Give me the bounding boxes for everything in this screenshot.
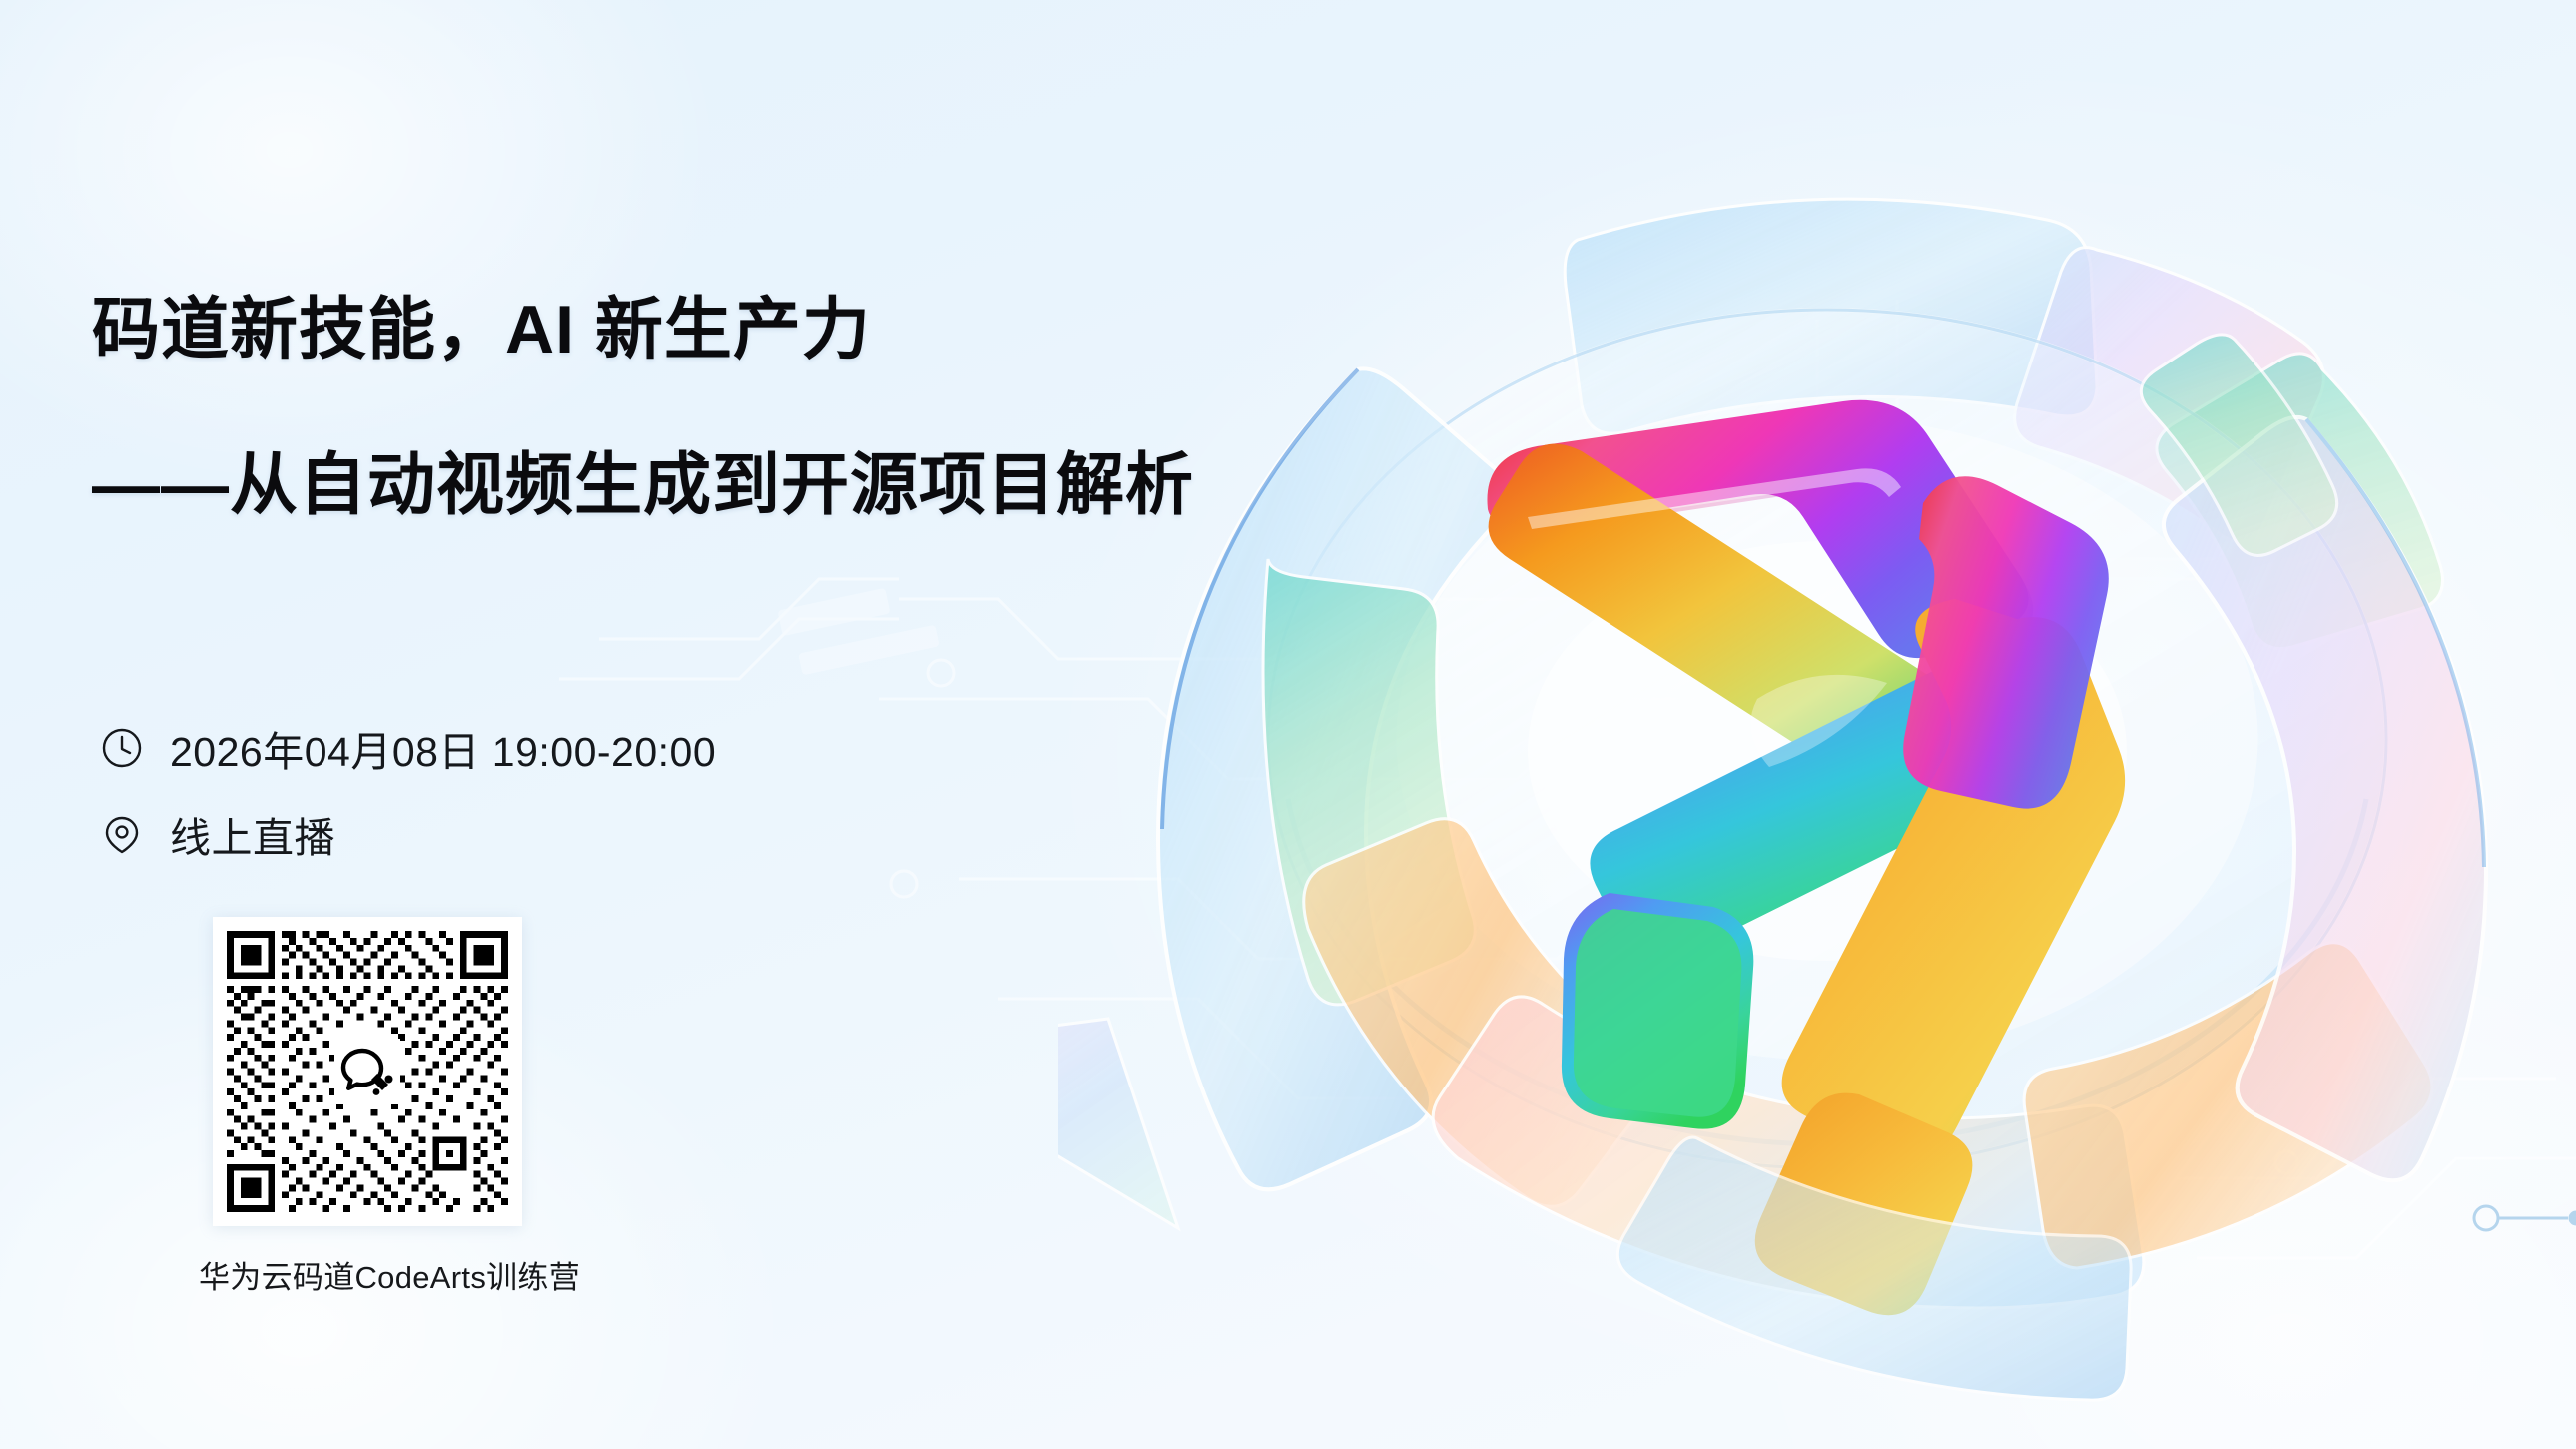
circuit-node-icon [2474,1206,2576,1230]
page-subtitle: ——从自动视频生成到开源项目解析 [92,451,1190,519]
event-location-row: 线上直播 [100,803,716,865]
qr-canvas [227,931,508,1212]
text-column: 码道新技能，AI 新生产力 ——从自动视频生成到开源项目解析 2026年04月0… [0,0,1178,1449]
wechat-chat-icon [336,1041,398,1102]
event-meta: 2026年04月08日 19:00-20:00 线上直播 [100,717,716,889]
qr-block: 华为云码道CodeArts训练营 [213,917,522,1297]
clock-icon [100,726,144,770]
page-title: 码道新技能，AI 新生产力 [92,296,1150,363]
event-datetime-row: 2026年04月08日 19:00-20:00 [100,717,716,779]
event-datetime: 2026年04月08日 19:00-20:00 [170,718,716,778]
location-pin-icon [100,812,144,856]
qr-caption: 华为云码道CodeArts训练营 [199,1252,508,1297]
qr-code[interactable] [213,917,522,1226]
qr-center-badge [334,1039,400,1104]
poster-canvas: 码道新技能，AI 新生产力 ——从自动视频生成到开源项目解析 2026年04月0… [0,0,2576,1449]
event-location: 线上直播 [170,804,335,864]
glass-ribbon-artwork [1058,40,2576,1438]
